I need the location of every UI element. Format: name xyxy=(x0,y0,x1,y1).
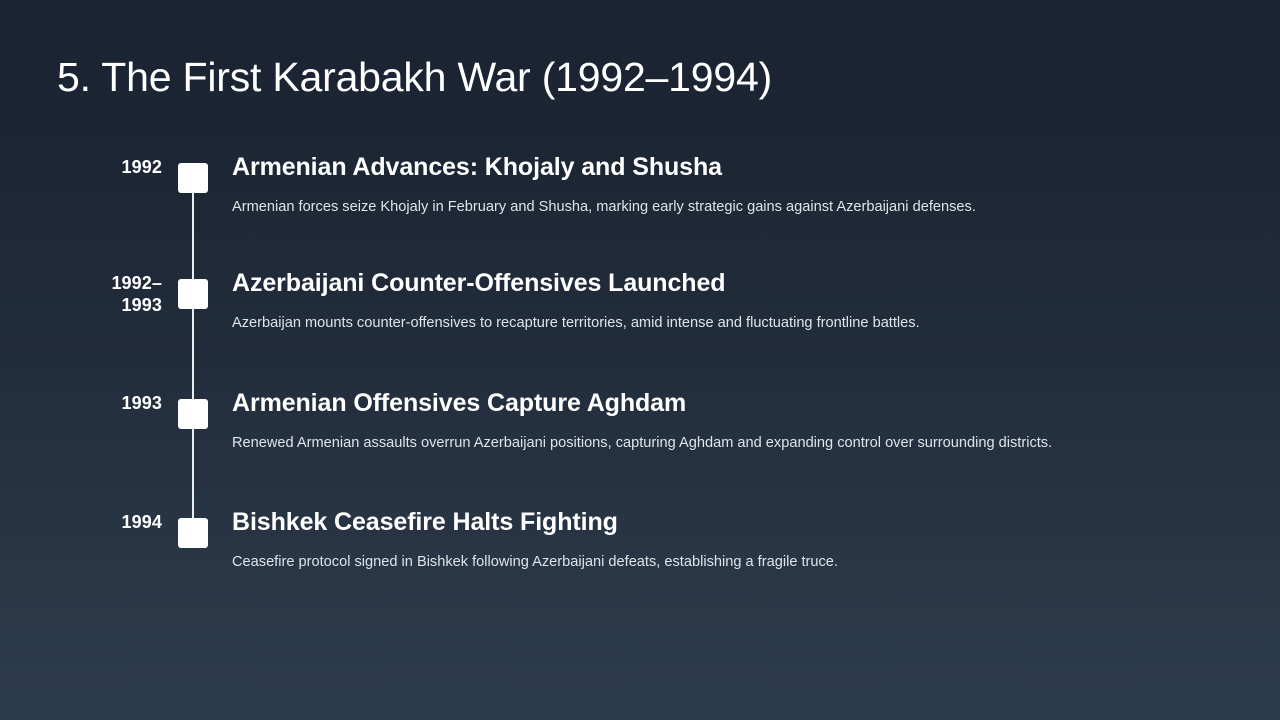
timeline-body: Ceasefire protocol signed in Bishkek fol… xyxy=(232,551,1182,574)
timeline-axis xyxy=(162,150,208,266)
timeline-body: Renewed Armenian assaults overrun Azerba… xyxy=(232,432,1182,455)
timeline-content: Armenian Offensives Capture Aghdam Renew… xyxy=(208,386,1280,455)
timeline-heading: Bishkek Ceasefire Halts Fighting xyxy=(232,507,1220,538)
timeline: 1992 Armenian Advances: Khojaly and Shus… xyxy=(0,150,1280,615)
timeline-marker-icon xyxy=(178,279,208,309)
timeline-item[interactable]: 1994 Bishkek Ceasefire Halts Fighting Ce… xyxy=(0,505,1280,615)
timeline-date: 1992 xyxy=(0,150,162,179)
timeline-heading: Armenian Advances: Khojaly and Shusha xyxy=(232,152,1220,183)
timeline-axis xyxy=(162,386,208,505)
timeline-content: Bishkek Ceasefire Halts Fighting Ceasefi… xyxy=(208,505,1280,574)
timeline-date-line-1: 1992– xyxy=(0,273,162,295)
timeline-content: Armenian Advances: Khojaly and Shusha Ar… xyxy=(208,150,1280,219)
timeline-date: 1992– 1993 xyxy=(0,266,162,317)
timeline-marker-icon xyxy=(178,518,208,548)
timeline-marker-icon xyxy=(178,163,208,193)
timeline-heading: Armenian Offensives Capture Aghdam xyxy=(232,388,1220,419)
timeline-marker-icon xyxy=(178,399,208,429)
timeline-heading: Azerbaijani Counter-Offensives Launched xyxy=(232,268,1220,299)
timeline-body: Azerbaijan mounts counter-offensives to … xyxy=(232,312,1182,335)
timeline-axis xyxy=(162,505,208,615)
timeline-date-line-1: 1993 xyxy=(0,393,162,415)
timeline-date-line-2: 1993 xyxy=(0,295,162,317)
timeline-date: 1993 xyxy=(0,386,162,415)
timeline-axis xyxy=(162,266,208,386)
timeline-date-line-1: 1992 xyxy=(0,157,162,179)
timeline-body: Armenian forces seize Khojaly in Februar… xyxy=(232,196,1182,219)
page-title: 5. The First Karabakh War (1992–1994) xyxy=(57,54,772,101)
timeline-content: Azerbaijani Counter-Offensives Launched … xyxy=(208,266,1280,335)
timeline-date-line-1: 1994 xyxy=(0,512,162,534)
timeline-date: 1994 xyxy=(0,505,162,534)
